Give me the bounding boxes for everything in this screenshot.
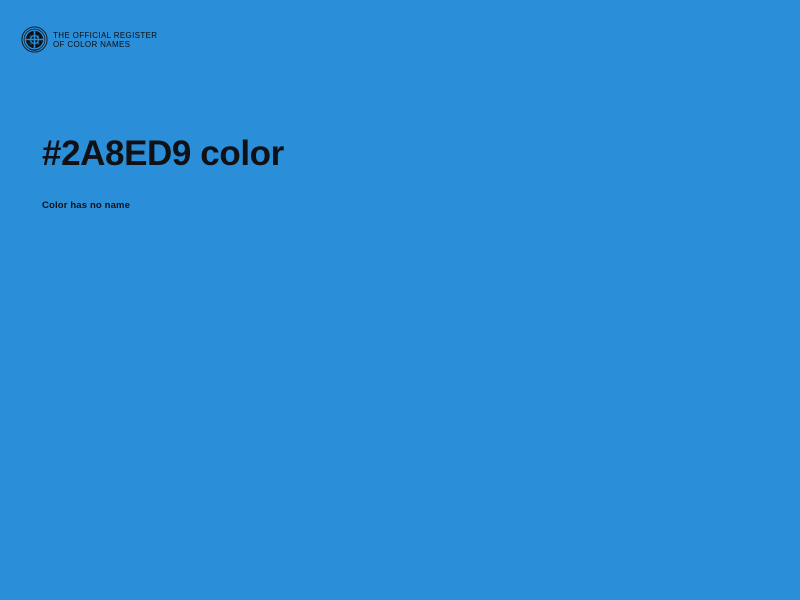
svg-text:C: C <box>30 42 33 46</box>
color-page: O R C N THE OFFICIAL REGISTER OF COLOR N… <box>0 0 800 600</box>
brand-line-1: THE OFFICIAL REGISTER <box>53 31 157 41</box>
brand-line-2: OF COLOR NAMES <box>53 40 157 50</box>
brand-wordmark: THE OFFICIAL REGISTER OF COLOR NAMES <box>53 30 157 50</box>
svg-text:N: N <box>37 42 40 46</box>
color-name-status: Color has no name <box>42 199 130 212</box>
page-title: #2A8ED9 color <box>42 133 284 175</box>
color-swatch-background <box>0 0 800 600</box>
brand-lockup[interactable]: O R C N THE OFFICIAL REGISTER OF COLOR N… <box>21 26 157 53</box>
svg-text:R: R <box>37 35 40 39</box>
svg-text:O: O <box>30 35 33 39</box>
register-seal-icon: O R C N <box>21 26 48 53</box>
